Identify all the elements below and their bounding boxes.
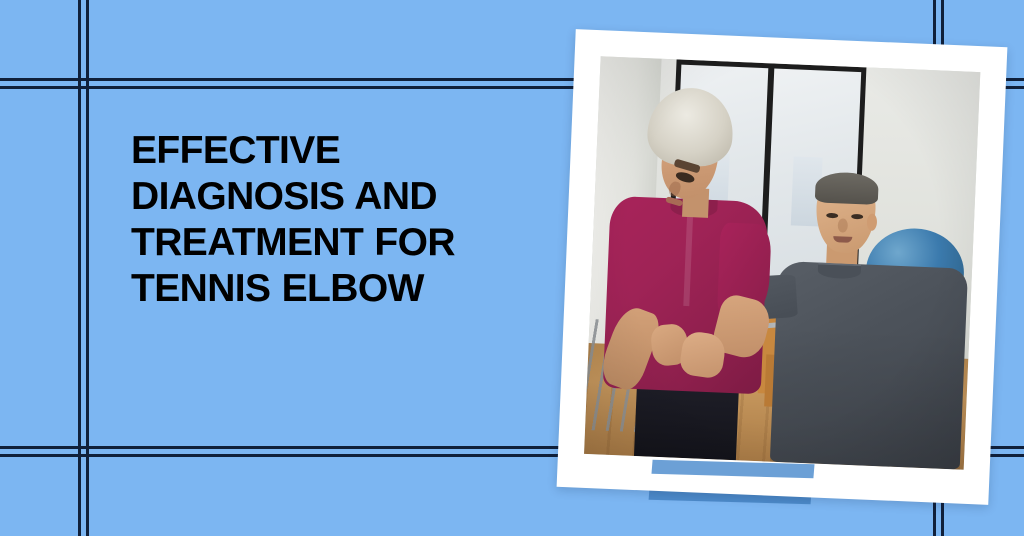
headline-line-2: DIAGNOSIS AND bbox=[131, 174, 531, 220]
grid-line-vertical-left-b bbox=[86, 0, 89, 536]
headline-line-1: EFFECTIVE bbox=[131, 128, 531, 174]
patient-nose bbox=[837, 218, 847, 233]
headline-line-3: TREATMENT FOR bbox=[131, 220, 531, 266]
patient-ear bbox=[867, 213, 878, 231]
headline-line-4: TENNIS ELBOW bbox=[131, 266, 531, 312]
therapist-hair bbox=[646, 86, 734, 167]
photo-image bbox=[584, 56, 980, 470]
therapist-figure bbox=[592, 84, 820, 463]
grid-line-vertical-left-a bbox=[78, 0, 81, 536]
photo-scene bbox=[584, 56, 980, 470]
banner-canvas: EFFECTIVE DIAGNOSIS AND TREATMENT FOR TE… bbox=[0, 0, 1024, 536]
photo-frame-wrapper bbox=[557, 29, 1008, 505]
photo-frame-border bbox=[557, 29, 1008, 505]
page-title: EFFECTIVE DIAGNOSIS AND TREATMENT FOR TE… bbox=[131, 128, 531, 312]
